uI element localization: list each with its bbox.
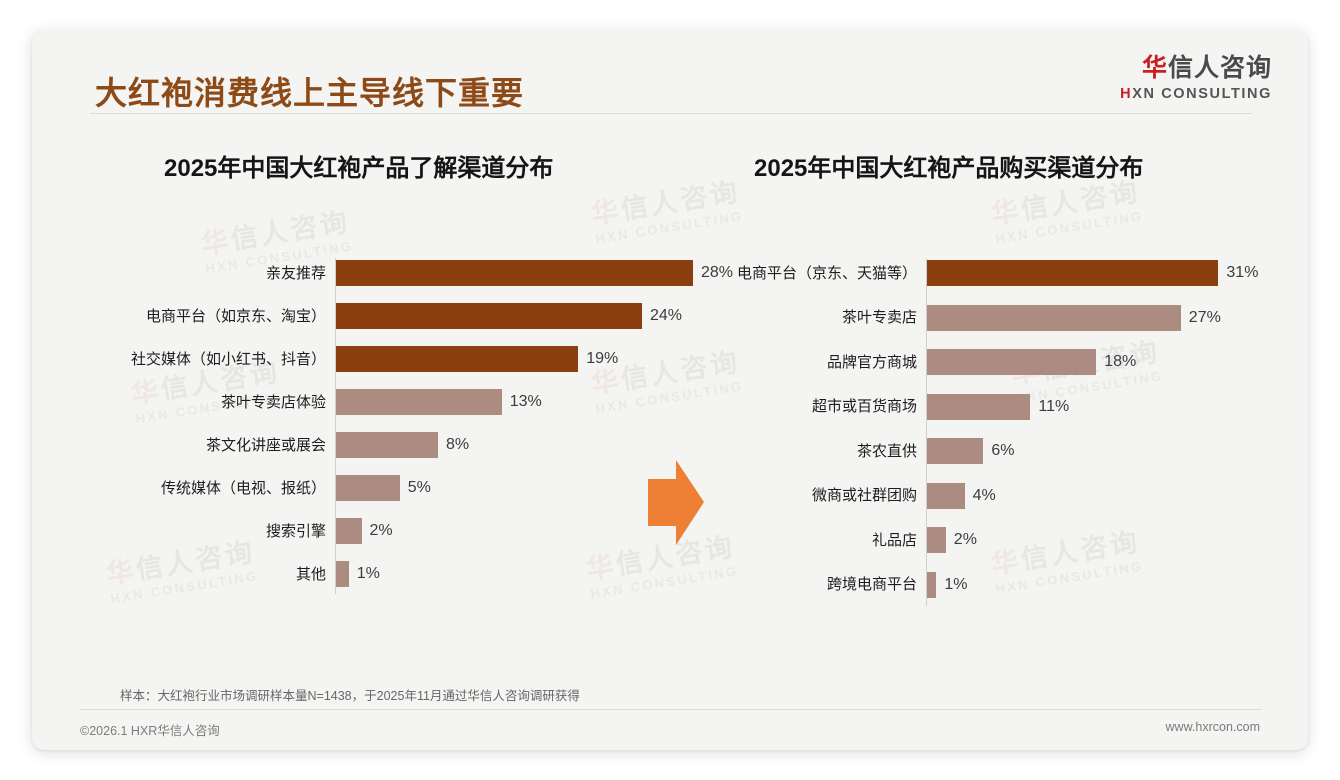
bar-value-label: 24% [650, 308, 682, 324]
bar-segment [927, 572, 936, 598]
bar-category-label: 茶叶专卖店 [704, 310, 917, 325]
chart-title-purchase: 2025年中国大红袍产品购买渠道分布 [754, 148, 1143, 183]
bar-row: 亲友推荐28% [78, 260, 688, 286]
bar-segment [927, 394, 1030, 420]
bar-value-label: 13% [510, 394, 542, 410]
footer-website[interactable]: www.hxrcon.com [1166, 720, 1260, 734]
bar-value-label: 6% [991, 443, 1014, 459]
slide-card: 华信人咨询 HXN CONSULTING 华信人咨询 HXN CONSULTIN… [32, 30, 1308, 750]
bar-segment [927, 260, 1218, 286]
bar-row: 茶文化讲座或展会8% [78, 432, 688, 458]
bar-category-label: 礼品店 [704, 533, 917, 548]
bar-row: 社交媒体（如小红书、抖音）19% [78, 346, 688, 372]
bar-row: 茶叶专卖店体验13% [78, 389, 688, 415]
bar-segment [336, 389, 502, 415]
chart-panel-purchase: 2025年中国大红袍产品购买渠道分布 电商平台（京东、天猫等）31%茶叶专卖店2… [704, 148, 1294, 568]
bar-value-label: 27% [1189, 310, 1221, 326]
bar-value-label: 31% [1226, 265, 1258, 281]
bar-category-label: 茶农直供 [704, 444, 917, 459]
bar-segment [336, 303, 642, 329]
bar-value-label: 4% [973, 488, 996, 504]
bar-category-label: 茶叶专卖店体验 [78, 395, 326, 410]
bar-category-label: 电商平台（如京东、淘宝） [78, 309, 326, 324]
bar-segment [336, 475, 400, 501]
bar-value-label: 2% [370, 523, 393, 539]
bar-value-label: 1% [357, 566, 380, 582]
bar-row: 其他1% [78, 561, 688, 587]
bar-row: 礼品店2% [704, 527, 1294, 553]
bar-row: 传统媒体（电视、报纸）5% [78, 475, 688, 501]
slide-root: 华信人咨询 HXN CONSULTING 华信人咨询 HXN CONSULTIN… [0, 0, 1340, 780]
bar-category-label: 传统媒体（电视、报纸） [78, 481, 326, 496]
bar-segment [336, 432, 438, 458]
bar-category-label: 社交媒体（如小红书、抖音） [78, 352, 326, 367]
bar-row: 品牌官方商城18% [704, 349, 1294, 375]
bar-category-label: 搜索引擎 [78, 524, 326, 539]
bar-category-label: 其他 [78, 567, 326, 582]
bar-category-label: 茶文化讲座或展会 [78, 438, 326, 453]
bar-row: 搜索引擎2% [78, 518, 688, 544]
bar-row: 微商或社群团购4% [704, 483, 1294, 509]
bar-segment [927, 305, 1181, 331]
bar-value-label: 18% [1104, 354, 1136, 370]
brand-logo: 华信人咨询 HXN CONSULTING [1120, 56, 1272, 102]
flow-arrow-icon [646, 460, 706, 545]
bar-category-label: 跨境电商平台 [704, 577, 917, 592]
bar-segment [336, 346, 578, 372]
bar-value-label: 11% [1038, 399, 1069, 415]
bar-value-label: 19% [586, 351, 618, 367]
brand-logo-cn: 华信人咨询 [1120, 56, 1272, 81]
footer-copyright: ©2026.1 HXR华信人咨询 [80, 720, 220, 739]
bar-segment [927, 438, 983, 464]
header-divider [90, 113, 1252, 114]
bar-value-label: 2% [954, 532, 977, 548]
bar-row: 电商平台（京东、天猫等）31% [704, 260, 1294, 286]
chart-title-awareness: 2025年中国大红袍产品了解渠道分布 [164, 148, 553, 183]
bar-row: 电商平台（如京东、淘宝）24% [78, 303, 688, 329]
bar-category-label: 微商或社群团购 [704, 488, 917, 503]
bar-segment [927, 483, 965, 509]
chart-panel-awareness: 2025年中国大红袍产品了解渠道分布 亲友推荐28%电商平台（如京东、淘宝）24… [78, 148, 688, 568]
bar-value-label: 8% [446, 437, 469, 453]
page-title: 大红袍消费线上主导线下重要 [95, 68, 524, 114]
bar-segment [336, 260, 693, 286]
bar-category-label: 电商平台（京东、天猫等） [704, 266, 917, 281]
bar-value-label: 1% [944, 577, 967, 593]
bar-row: 超市或百货商场11% [704, 394, 1294, 420]
bar-segment [927, 349, 1096, 375]
bar-row: 茶叶专卖店27% [704, 305, 1294, 331]
sample-footnote: 样本：大红袍行业市场调研样本量N=1438，于2025年11月通过华信人咨询调研… [120, 685, 580, 704]
bar-row: 跨境电商平台1% [704, 572, 1294, 598]
bar-category-label: 超市或百货商场 [704, 399, 917, 414]
bar-value-label: 5% [408, 480, 431, 496]
bar-category-label: 亲友推荐 [78, 266, 326, 281]
bar-segment [336, 561, 349, 587]
bar-segment [336, 518, 362, 544]
bar-segment [927, 527, 946, 553]
brand-logo-en: HXN CONSULTING [1120, 87, 1272, 102]
footer-divider [80, 709, 1262, 710]
bar-row: 茶农直供6% [704, 438, 1294, 464]
bar-category-label: 品牌官方商城 [704, 355, 917, 370]
